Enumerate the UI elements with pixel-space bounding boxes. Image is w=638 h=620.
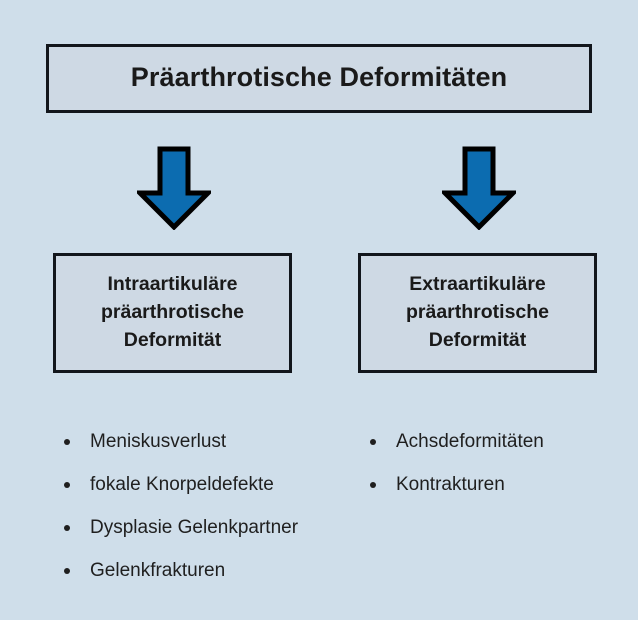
arrow-to-extraarticular [442, 146, 516, 230]
intraarticular-box-line-1: Intraartikuläre [107, 273, 237, 295]
extraarticular-box: Extraartikuläre präarthrotische Deformit… [358, 253, 597, 373]
list-item: Gelenkfrakturen [60, 549, 360, 592]
intraarticular-box-line-3: Deformität [124, 329, 222, 351]
diagram-canvas: Präarthrotische Deformitäten Intraartiku… [0, 0, 638, 620]
bullet-icon [370, 482, 376, 488]
intraarticular-item-list: Meniskusverlust fokale Knorpeldefekte Dy… [60, 420, 360, 592]
extraarticular-box-line-2: präarthrotische [406, 301, 549, 323]
list-item-label: Dysplasie Gelenkpartner [90, 517, 298, 539]
list-item-label: Achsdeformitäten [396, 431, 544, 453]
list-item-label: fokale Knorpeldefekte [90, 474, 274, 496]
title-box-label: Präarthrotische Deformitäten [131, 63, 507, 95]
intraarticular-box: Intraartikuläre präarthrotische Deformit… [53, 253, 292, 373]
arrow-to-intraarticular [137, 146, 211, 230]
extraarticular-box-line-3: Deformität [429, 329, 527, 351]
extraarticular-item-list: Achsdeformitäten Kontrakturen [366, 420, 631, 506]
bullet-icon [64, 525, 70, 531]
list-item: Achsdeformitäten [366, 420, 631, 463]
title-box: Präarthrotische Deformitäten [46, 44, 592, 113]
intraarticular-box-line-2: präarthrotische [101, 301, 244, 323]
list-item: Kontrakturen [366, 463, 631, 506]
list-item-label: Gelenkfrakturen [90, 560, 225, 582]
down-arrow-icon [445, 149, 513, 227]
down-arrow-icon [140, 149, 208, 227]
bullet-icon [64, 568, 70, 574]
bullet-icon [64, 439, 70, 445]
list-item-label: Meniskusverlust [90, 431, 226, 453]
list-item: Meniskusverlust [60, 420, 360, 463]
extraarticular-box-label: Extraartikuläre präarthrotische Deformit… [406, 271, 549, 354]
list-item: fokale Knorpeldefekte [60, 463, 360, 506]
bullet-icon [64, 482, 70, 488]
list-item-label: Kontrakturen [396, 474, 505, 496]
list-item: Dysplasie Gelenkpartner [60, 506, 360, 549]
bullet-icon [370, 439, 376, 445]
intraarticular-box-label: Intraartikuläre präarthrotische Deformit… [101, 271, 244, 354]
extraarticular-box-line-1: Extraartikuläre [409, 273, 546, 295]
